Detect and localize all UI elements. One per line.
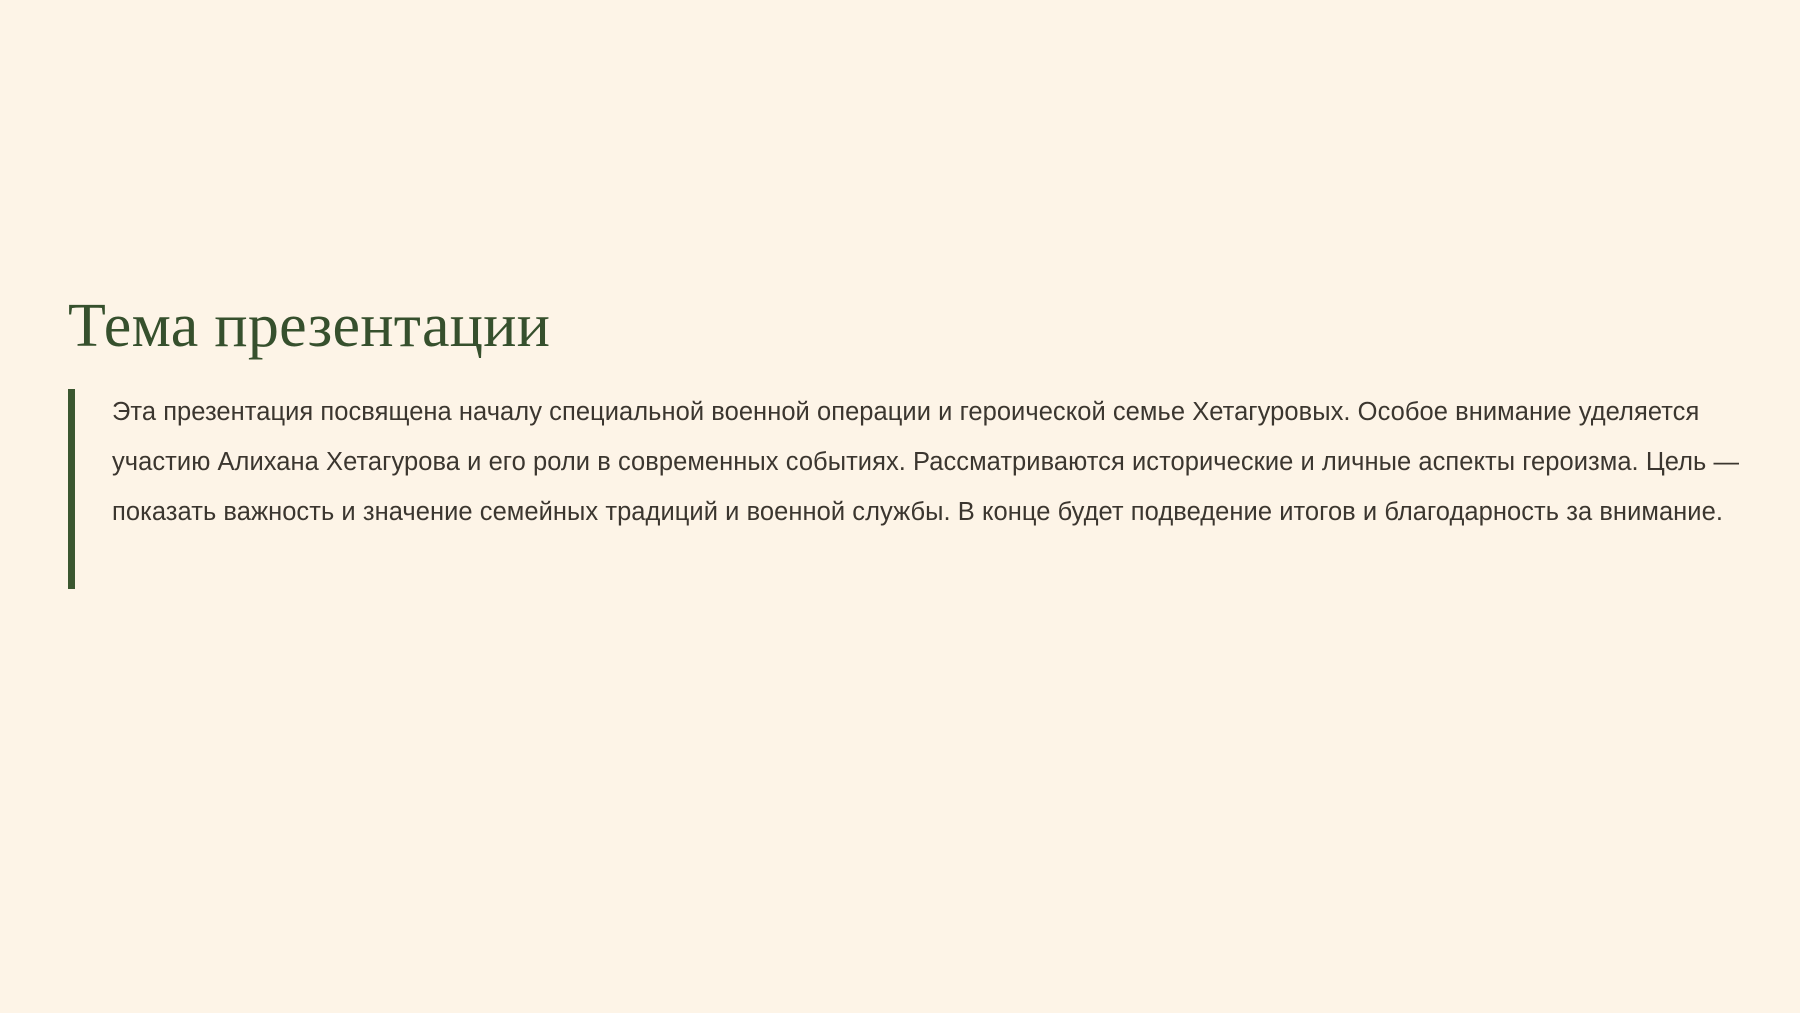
slide-content: Тема презентации Эта презентация посвяще…	[68, 290, 1794, 537]
body-paragraph: Эта презентация посвящена началу специал…	[112, 387, 1794, 537]
page-title: Тема презентации	[68, 290, 1794, 363]
accent-bar	[68, 389, 75, 589]
body-quote-block: Эта презентация посвящена началу специал…	[68, 387, 1794, 537]
presentation-slide: Тема презентации Эта презентация посвяще…	[0, 0, 1800, 1013]
